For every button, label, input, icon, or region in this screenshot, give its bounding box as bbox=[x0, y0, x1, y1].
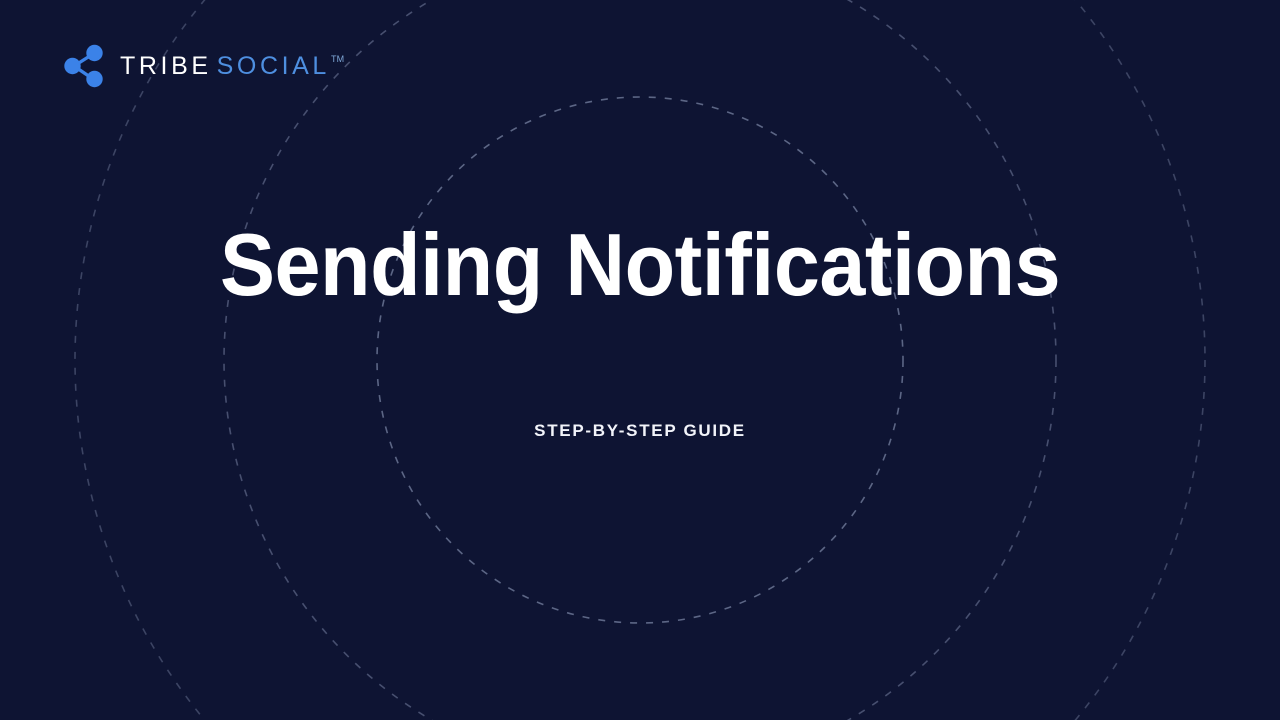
slide-content: Sending Notifications STEP-BY-STEP GUIDE bbox=[0, 0, 1280, 720]
slide-subtitle: STEP-BY-STEP GUIDE bbox=[534, 421, 746, 441]
title-slide: TRIBE SOCIAL TM Sending Notifications ST… bbox=[0, 0, 1280, 720]
page-title: Sending Notifications bbox=[220, 221, 1060, 309]
